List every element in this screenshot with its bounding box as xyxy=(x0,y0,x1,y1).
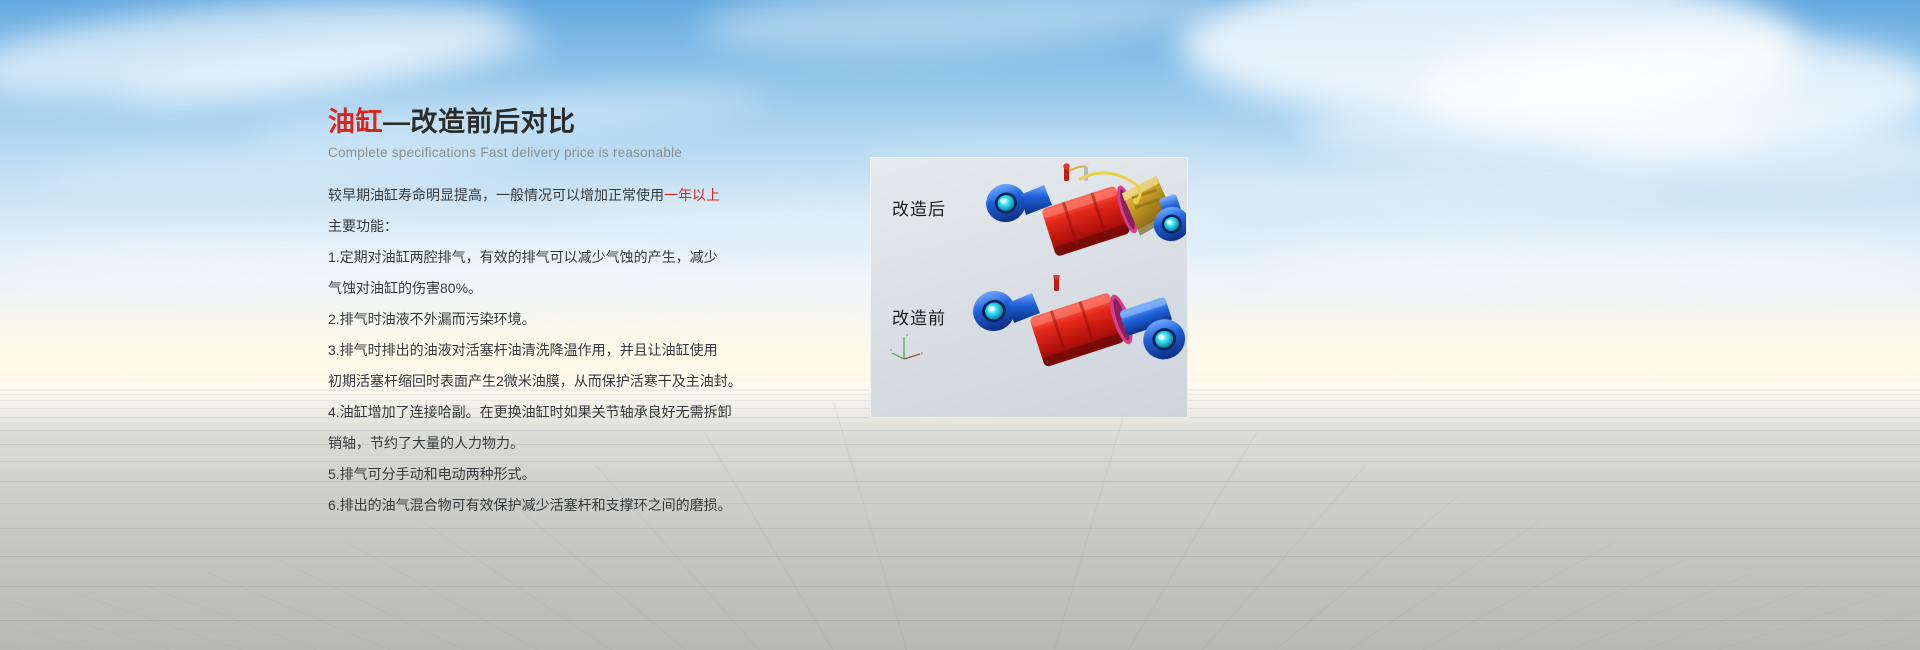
feature-line: 5.排气可分手动和电动两种形式。 xyxy=(328,462,848,487)
tile-joint-horizontal xyxy=(0,444,1920,445)
banner-stage: 油缸—改造前后对比 Complete specifications Fast d… xyxy=(0,0,1920,650)
feature-line: 4.油缸增加了连接哈副。在更换油缸时如果关节轴承良好无需拆卸 xyxy=(328,400,848,425)
label-after-modification: 改造后 xyxy=(892,195,946,220)
cloud-wisp xyxy=(1580,120,1920,184)
page-subtitle: Complete specifications Fast delivery pr… xyxy=(328,145,848,160)
xyz-axis-triad-icon: z x y xyxy=(890,329,930,363)
features-heading: 主要功能： xyxy=(328,214,848,239)
tile-joint-horizontal xyxy=(0,586,1920,587)
feature-line: 6.排出的油气混合物可有效保护减少活塞杆和支撑环之间的磨损。 xyxy=(328,493,848,518)
cloud-wisp xyxy=(1150,168,1670,212)
cloud-wisp xyxy=(1500,60,1800,116)
tile-joint-vertical xyxy=(276,559,546,650)
svg-text:y: y xyxy=(921,350,923,355)
feature-line: 气蚀对油缸的伤害80%。 xyxy=(328,276,848,301)
tile-joint-horizontal xyxy=(0,430,1920,431)
tile-joint-vertical xyxy=(1414,559,1684,650)
intro-highlight: 一年以上 xyxy=(664,187,720,203)
tile-joint-vertical xyxy=(0,619,113,650)
tile-joint-vertical xyxy=(76,593,360,650)
tile-joint-horizontal xyxy=(0,528,1920,529)
tile-joint-vertical xyxy=(1166,465,1366,650)
page-title: 油缸—改造前后对比 xyxy=(328,106,848,138)
tile-joint-vertical xyxy=(0,608,237,650)
hydraulic-cylinder-after-modification xyxy=(968,163,1186,283)
feature-line: 3.排气时排出的油液对活塞杆油清洗降温作用，并且让油缸使用 xyxy=(328,338,848,363)
svg-text:x: x xyxy=(890,347,892,352)
tile-joint-vertical xyxy=(142,584,423,650)
tile-joint-vertical xyxy=(1600,593,1884,650)
feature-text-block: 较早期油缸寿命明显提高，一般情况可以增加正常使用一年以上 主要功能： 1.定期对… xyxy=(328,183,848,518)
tile-joint-horizontal xyxy=(0,556,1920,557)
tile-joint-horizontal xyxy=(0,461,1920,462)
tile-joint-vertical xyxy=(1042,402,1128,650)
copy-block: 油缸—改造前后对比 Complete specifications Fast d… xyxy=(328,106,848,524)
tile-joint-vertical xyxy=(12,601,299,650)
cloud-wisp xyxy=(699,0,1222,64)
tile-joint-vertical xyxy=(208,573,485,650)
feature-line: 销轴，节约了大量的人力物力。 xyxy=(328,431,848,456)
svg-text:z: z xyxy=(906,332,908,337)
tile-joint-horizontal xyxy=(0,481,1920,482)
page-title-accent: 油缸 xyxy=(328,107,383,137)
cloud-wisp xyxy=(1260,232,1920,288)
feature-line: 1.定期对油缸两腔排气，有效的排气可以减少气蚀的产生，减少 xyxy=(328,245,848,270)
feature-line: 初期活塞杆缩回时表面产生2微米油膜，从而保护活寒干及主油封。 xyxy=(328,369,848,394)
hydraulic-cylinder-before-modification xyxy=(958,275,1188,405)
intro-text: 较早期油缸寿命明显提高，一般情况可以增加正常使用 xyxy=(328,187,664,203)
tile-joint-vertical xyxy=(1104,431,1257,650)
page-title-rest: —改造前后对比 xyxy=(383,107,576,137)
tile-joint-vertical xyxy=(1228,496,1458,650)
label-before-modification: 改造前 xyxy=(892,304,946,329)
feature-line: 2.排气时油液不外漏而污染环境。 xyxy=(328,307,848,332)
tile-joint-horizontal xyxy=(0,620,1920,621)
tile-joint-vertical xyxy=(1538,584,1819,650)
plaza-ground xyxy=(0,382,1920,650)
product-comparison-panel: 改造后 改造前 z x y xyxy=(870,157,1188,418)
tile-joint-horizontal xyxy=(0,503,1920,504)
intro-line: 较早期油缸寿命明显提高，一般情况可以增加正常使用一年以上 xyxy=(328,183,848,208)
